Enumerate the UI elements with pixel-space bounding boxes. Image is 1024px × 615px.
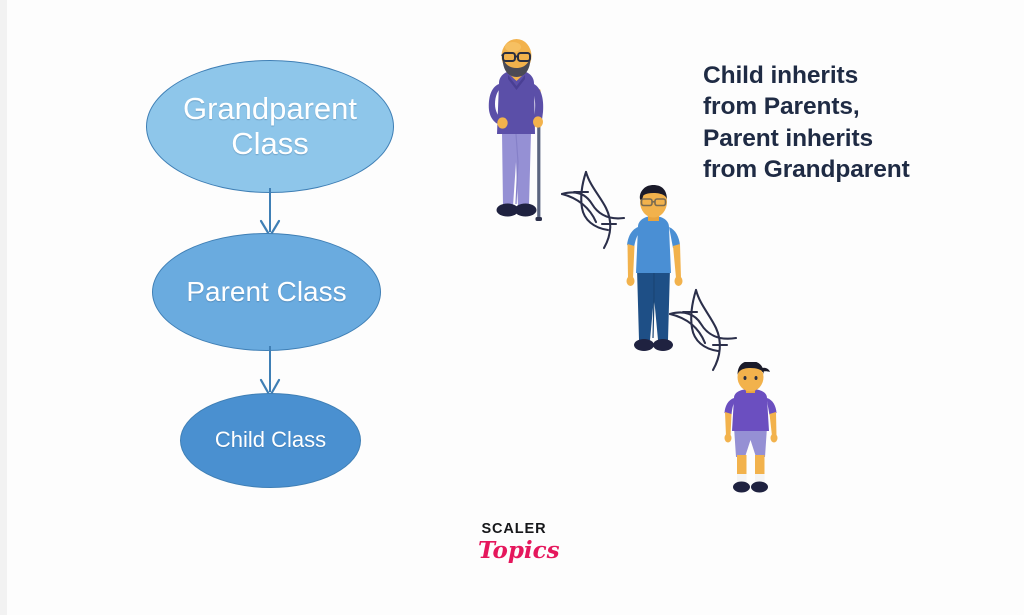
class-node-parent: Parent Class [152,233,381,351]
scaler-topics-logo: SCALER Topics [478,522,550,576]
headline-text: Child inherits from Parents, Parent inhe… [703,60,993,185]
left-edge-strip [0,0,7,615]
diagram-canvas: Grandparent Class Parent Class Child Cla… [0,0,1024,615]
headline-line-3: Parent inherits [703,123,993,154]
class-node-child: Child Class [180,393,361,488]
headline-line-1: Child inherits [703,60,993,91]
arrow-grandparent-to-parent [248,188,292,238]
headline-line-4: from Grandparent [703,154,993,185]
person-child-illustration [712,362,790,495]
class-node-parent-label: Parent Class [186,276,346,307]
class-node-grandparent: Grandparent Class [146,60,394,193]
class-node-grandparent-label: Grandparent Class [147,92,393,161]
logo-topics-text: Topics [478,539,550,563]
dna-helix-top-icon [560,168,632,250]
headline-line-2: from Parents, [703,91,993,122]
class-node-child-label: Child Class [215,428,326,453]
logo-scaler-text: SCALER [478,522,550,537]
arrow-parent-to-child [248,346,292,398]
dna-helix-bottom-icon [668,286,744,372]
